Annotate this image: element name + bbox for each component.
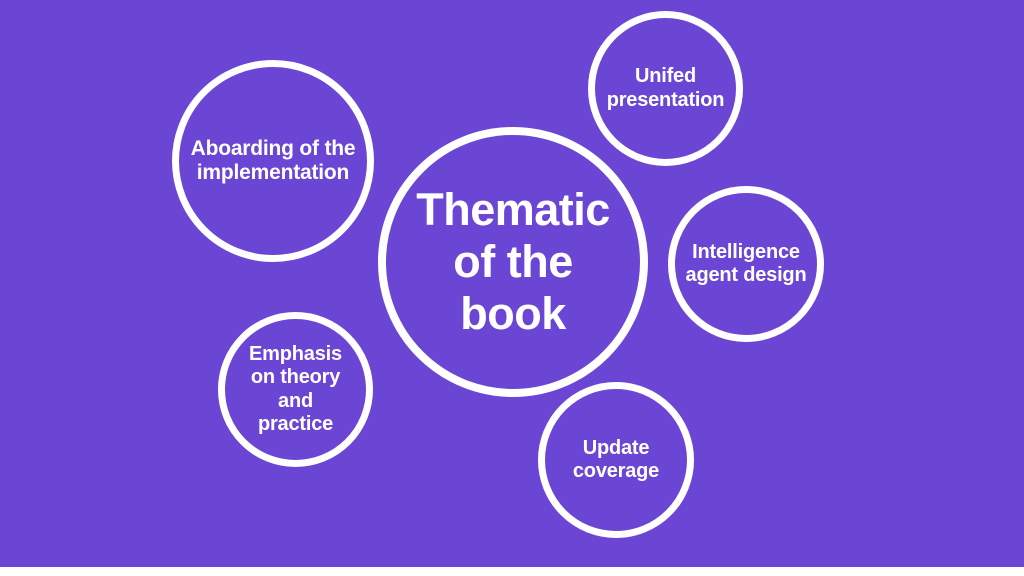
bubble-label-aboarding: Aboarding of the implementation: [179, 137, 367, 186]
bubble-label-intelligence: Intelligence agent design: [675, 241, 817, 287]
diagram-background: Aboarding of the implementation Unifed p…: [0, 0, 1024, 567]
bubble-label-emphasis: Emphasis on theory and practice: [225, 343, 366, 436]
bubble-intelligence-agent-design[interactable]: Intelligence agent design: [668, 186, 824, 342]
bubble-center-thematic-of-the-book[interactable]: Thematic of the book: [378, 127, 648, 397]
bubble-unifed-presentation[interactable]: Unifed presentation: [588, 11, 743, 166]
bubble-label-unifed: Unifed presentation: [595, 65, 736, 111]
bubble-update-coverage[interactable]: Update coverage: [538, 382, 694, 538]
bottom-margin-strip: [0, 567, 1024, 576]
bubble-aboarding-of-the-implementation[interactable]: Aboarding of the implementation: [172, 60, 374, 262]
bubble-emphasis-on-theory-and-practice[interactable]: Emphasis on theory and practice: [218, 312, 373, 467]
bubble-label-center: Thematic of the book: [386, 184, 640, 341]
bubble-label-update: Update coverage: [545, 437, 687, 483]
slide-canvas: Aboarding of the implementation Unifed p…: [0, 0, 1024, 576]
